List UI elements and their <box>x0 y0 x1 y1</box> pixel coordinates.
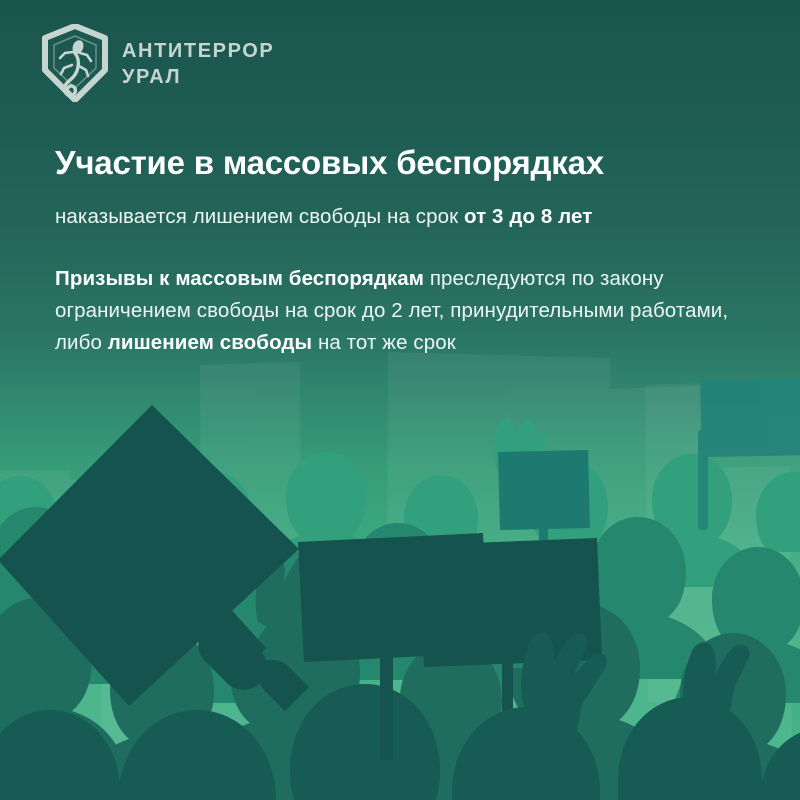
poster-content: Участие в массовых беспорядках наказывае… <box>55 143 755 359</box>
penalty-subline: наказывается лишением свободы на срок от… <box>55 203 755 231</box>
poster-canvas: АНТИТЕРРОР УРАЛ Участие в массовых беспо… <box>0 0 800 800</box>
shield-lizard-icon <box>42 24 108 102</box>
incitement-highlight-bold: лишением свободы <box>108 331 312 354</box>
penalty-subline-normal: наказывается лишением свободы на срок <box>55 205 464 228</box>
incitement-paragraph: Призывы к массовым беспорядкам преследую… <box>55 263 745 358</box>
protest-crowd-illustration <box>0 0 800 800</box>
incitement-text-2: на тот же срок <box>312 331 456 354</box>
incitement-lead-bold: Призывы к массовым беспорядкам <box>55 267 424 290</box>
brand-line-2: УРАЛ <box>122 64 274 90</box>
brand-wordmark: АНТИТЕРРОР УРАЛ <box>122 36 274 91</box>
brand-line-1: АНТИТЕРРОР <box>122 38 274 64</box>
brand-logo[interactable]: АНТИТЕРРОР УРАЛ <box>42 24 274 102</box>
penalty-subline-highlight: от 3 до 8 лет <box>464 205 592 228</box>
page-title: Участие в массовых беспорядках <box>55 143 755 183</box>
